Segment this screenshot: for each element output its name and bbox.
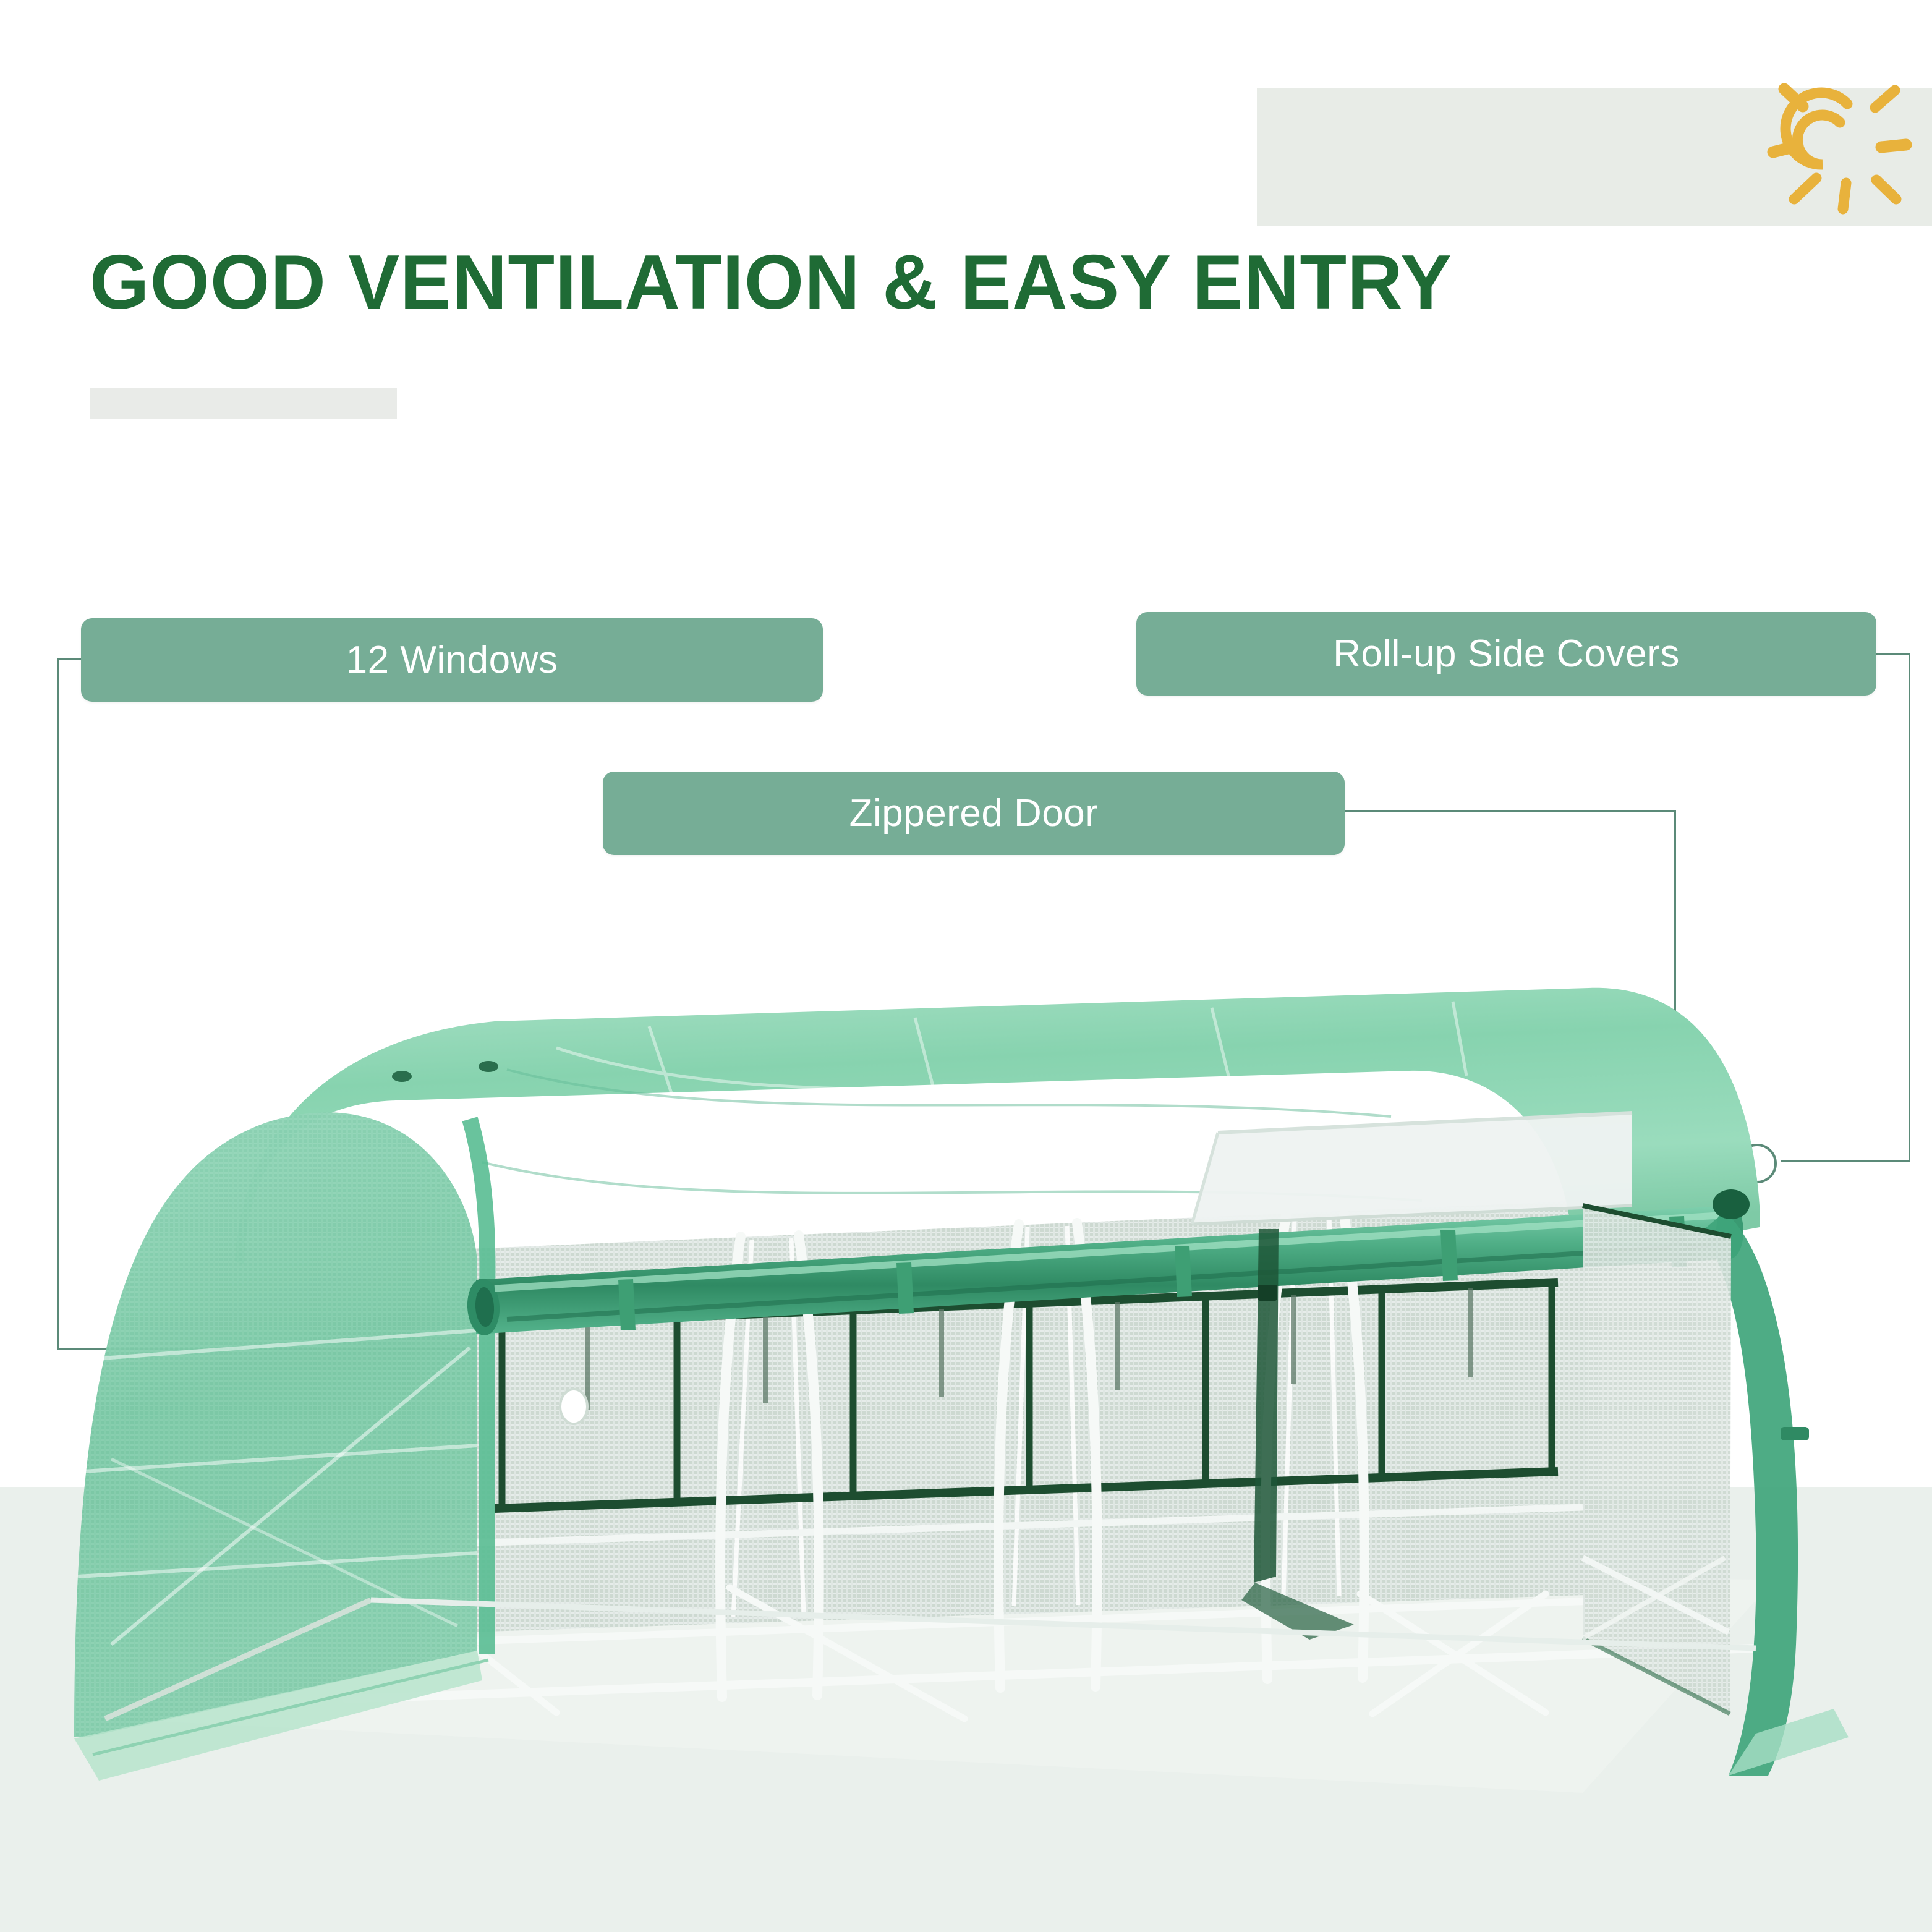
- callout-badge-windows[interactable]: 12 Windows: [81, 618, 823, 702]
- callout-label-door: Zippered Door: [849, 791, 1099, 835]
- callout-badge-door[interactable]: Zippered Door: [603, 772, 1345, 855]
- infographic-canvas: GOOD VENTILATION & EASY ENTRY 12 Windows…: [0, 0, 1932, 1932]
- callout-label-windows: 12 Windows: [346, 638, 558, 682]
- callout-badge-rollup[interactable]: Roll-up Side Covers: [1136, 612, 1876, 696]
- connector-rollup-stub: [1876, 653, 1910, 655]
- connector-door-right: [1345, 810, 1676, 812]
- roof-vent-flap: [1192, 1113, 1632, 1224]
- left-end-wall: [74, 1112, 488, 1781]
- window-grommet: [560, 1389, 587, 1424]
- greenhouse-illustration: [0, 915, 1932, 1879]
- title-underline-bar: [90, 388, 397, 419]
- callout-label-rollup: Roll-up Side Covers: [1333, 632, 1680, 676]
- sun-icon: [1725, 37, 1923, 235]
- page-title: GOOD VENTILATION & EASY ENTRY: [90, 244, 1452, 321]
